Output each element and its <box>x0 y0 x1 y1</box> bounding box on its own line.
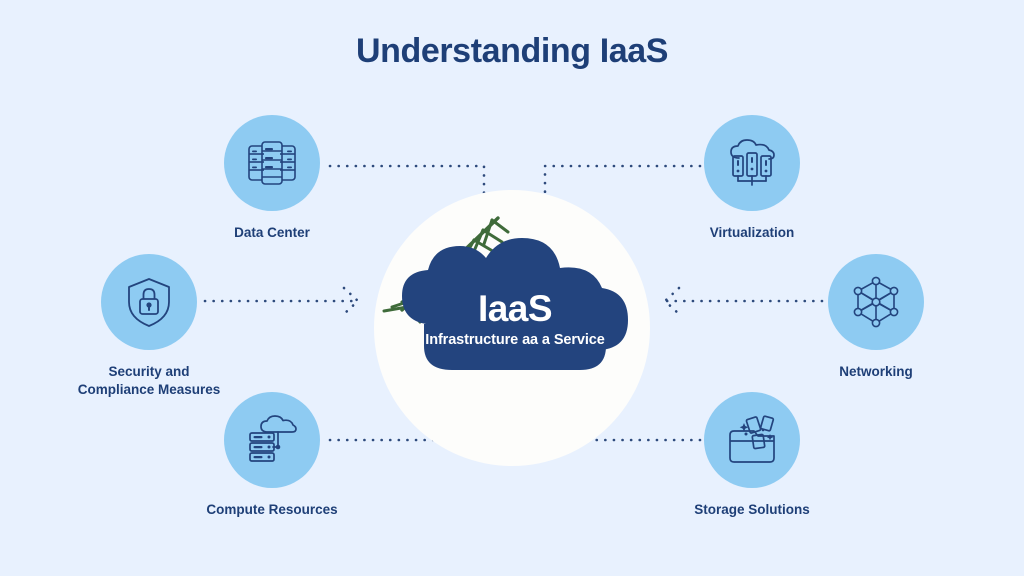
network-nodes-icon <box>850 276 902 328</box>
node-virtualization-circle[interactable] <box>704 115 800 211</box>
node-networking[interactable]: Networking <box>801 254 951 381</box>
arrowhead-networking <box>665 288 679 314</box>
folder-documents-icon <box>725 414 779 466</box>
node-security-circle[interactable] <box>101 254 197 350</box>
node-storage-label: Storage Solutions <box>694 501 810 519</box>
node-networking-circle[interactable] <box>828 254 924 350</box>
node-data-center-circle[interactable] <box>224 115 320 211</box>
page-title: Understanding IaaS <box>0 32 1024 71</box>
arrowhead-security <box>344 288 358 314</box>
node-data-center-label: Data Center <box>234 224 310 242</box>
node-storage-circle[interactable] <box>704 392 800 488</box>
node-compute-circle[interactable] <box>224 392 320 488</box>
center-cloud: IaaS Infrastructure aa a Service <box>396 238 634 370</box>
node-security[interactable]: Security and Compliance Measures <box>74 254 224 398</box>
node-compute[interactable]: Compute Resources <box>197 392 347 519</box>
node-virtualization-label: Virtualization <box>710 224 795 242</box>
node-virtualization[interactable]: Virtualization <box>677 115 827 242</box>
cloud-expansion: Infrastructure aa a Service <box>425 332 604 348</box>
cloud-servers-icon <box>726 137 778 189</box>
node-storage[interactable]: Storage Solutions <box>677 392 827 519</box>
infographic-canvas: Understanding IaaS <box>0 0 1024 576</box>
node-compute-label: Compute Resources <box>206 501 337 519</box>
cloud-database-icon <box>246 414 298 466</box>
shield-lock-icon <box>124 276 174 328</box>
node-data-center[interactable]: Data Center <box>197 115 347 242</box>
server-rack-icon <box>246 137 298 189</box>
cloud-acronym: IaaS <box>478 290 552 327</box>
node-networking-label: Networking <box>839 363 913 381</box>
